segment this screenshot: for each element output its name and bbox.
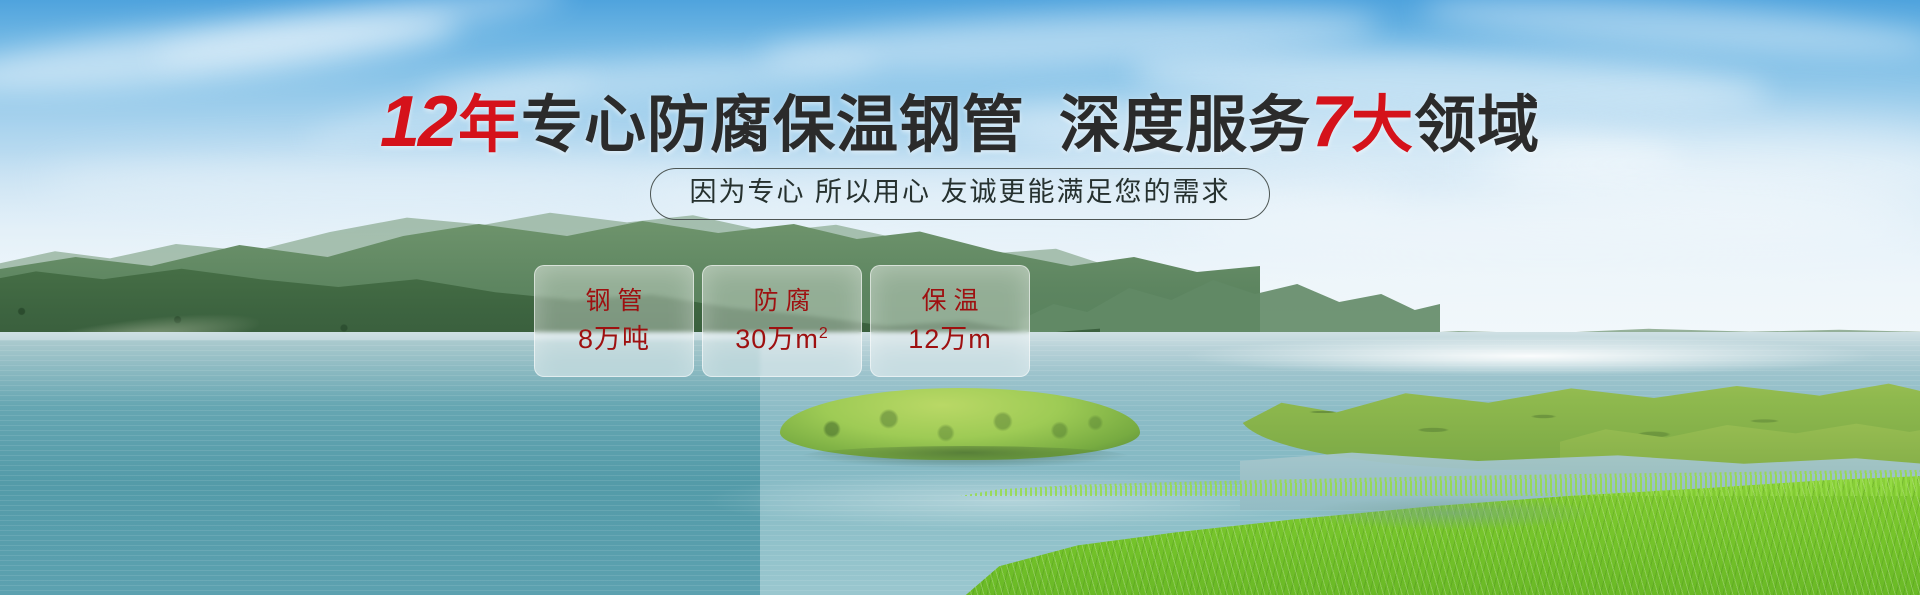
- stat-card-value: 8万吨: [578, 326, 650, 353]
- stat-card-value-main: 30万m: [735, 324, 819, 354]
- banner-headline: 12年专心防腐保温钢管深度服务7大领域: [0, 84, 1920, 160]
- stat-card-value-exponent: 2: [819, 325, 829, 342]
- headline-years-unit: 年: [458, 91, 521, 160]
- banner-subtitle-pill: 因为专心 所以用心 友诚更能满足您的需求: [650, 168, 1269, 220]
- headline-years-number: 12: [380, 82, 458, 162]
- headline-service-text: 深度服务: [1059, 91, 1311, 160]
- stat-card-insulation[interactable]: 保温 12万m: [870, 265, 1030, 377]
- hero-banner: 12年专心防腐保温钢管深度服务7大领域 因为专心 所以用心 友诚更能满足您的需求…: [0, 0, 1920, 595]
- stat-card-value-main: 12万m: [908, 324, 992, 354]
- stat-card-label: 钢管: [578, 289, 649, 314]
- banner-subtitle-wrap: 因为专心 所以用心 友诚更能满足您的需求: [0, 168, 1920, 220]
- island-reflection: [800, 446, 1130, 468]
- headline-fields-unit: 大: [1351, 91, 1414, 160]
- stat-card-label: 防腐: [746, 289, 817, 314]
- stat-card-anticorrosion[interactable]: 防腐 30万m2: [702, 265, 862, 377]
- headline-fields-text: 领域: [1414, 91, 1540, 160]
- water-glare: [700, 470, 1320, 530]
- stat-card-group: 钢管 8万吨 防腐 30万m2 保温 12万m: [534, 265, 1030, 377]
- stat-card-steel-pipe[interactable]: 钢管 8万吨: [534, 265, 694, 377]
- stat-card-label: 保温: [914, 289, 985, 314]
- headline-main-text: 专心防腐保温钢管: [521, 91, 1025, 160]
- headline-fields-number: 7: [1311, 82, 1351, 162]
- stat-card-value: 12万m: [908, 326, 992, 353]
- stat-card-value-main: 8万吨: [578, 324, 650, 354]
- shoreline-wet-patch: [1300, 496, 1600, 530]
- stat-card-value: 30万m2: [735, 326, 828, 353]
